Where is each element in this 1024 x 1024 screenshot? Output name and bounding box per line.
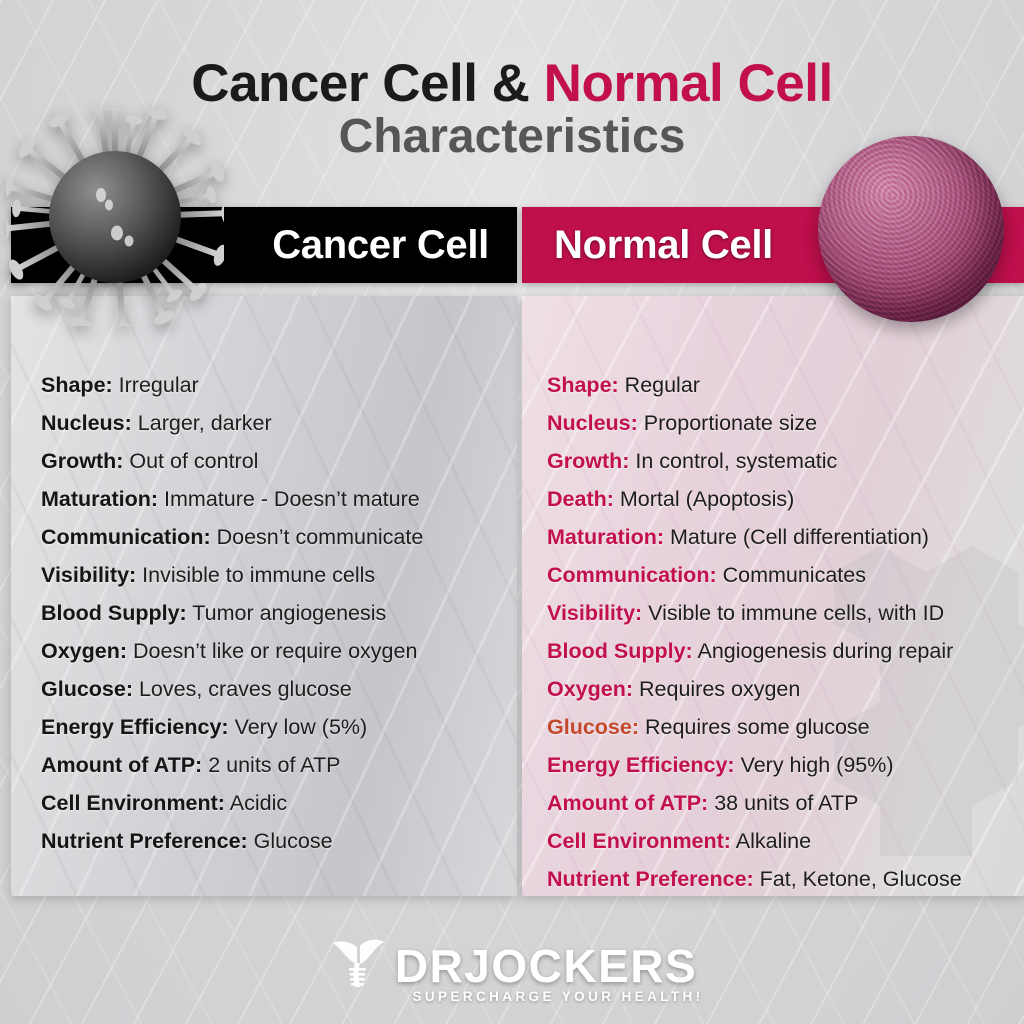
normal-characteristic-value: Requires some glucose bbox=[639, 715, 870, 739]
cancer-characteristic-value: Very low (5%) bbox=[229, 715, 368, 739]
normal-cell-header-label: Normal Cell bbox=[554, 223, 773, 268]
cancer-characteristic-value: Larger, darker bbox=[132, 411, 272, 435]
normal-characteristic-label: Amount of ATP: bbox=[547, 791, 708, 815]
cancer-characteristic-label: Growth: bbox=[41, 449, 123, 473]
normal-characteristic-value: Fat, Ketone, Glucose bbox=[754, 867, 962, 891]
infographic-canvas: Cancer Cell & Normal Cell Characteristic… bbox=[0, 0, 1024, 1024]
normal-characteristic-label: Energy Efficiency: bbox=[547, 753, 735, 777]
normal-characteristic-label: Growth: bbox=[547, 449, 629, 473]
cancer-characteristic-value: Irregular bbox=[113, 373, 199, 397]
normal-characteristic-value: Angiogenesis during repair bbox=[693, 639, 954, 663]
cancer-characteristic-row: Energy Efficiency: Very low (5%) bbox=[41, 708, 511, 746]
normal-characteristic-row: Nucleus: Proportionate size bbox=[547, 404, 1024, 442]
normal-characteristic-row: Cell Environment: Alkaline bbox=[547, 822, 1024, 860]
title-line-1: Cancer Cell & Normal Cell bbox=[0, 56, 1024, 111]
normal-characteristic-value: Mortal (Apoptosis) bbox=[614, 487, 794, 511]
cancer-characteristic-label: Nucleus: bbox=[41, 411, 132, 435]
normal-characteristic-row: Shape: Regular bbox=[547, 366, 1024, 404]
brand-tagline: SUPERCHARGE YOUR HEALTH! bbox=[412, 989, 703, 1004]
normal-characteristic-label: Nucleus: bbox=[547, 411, 638, 435]
normal-characteristic-row: Visibility: Visible to immune cells, wit… bbox=[547, 594, 1024, 632]
normal-cell-surface-texture bbox=[818, 136, 1004, 322]
normal-characteristic-label: Shape: bbox=[547, 373, 619, 397]
normal-characteristic-row: Death: Mortal (Apoptosis) bbox=[547, 480, 1024, 518]
normal-characteristic-label: Oxygen: bbox=[547, 677, 633, 701]
cancer-characteristic-label: Shape: bbox=[41, 373, 113, 397]
normal-characteristic-row: Nutrient Preference: Fat, Ketone, Glucos… bbox=[547, 860, 1024, 898]
cancer-characteristic-label: Visibility: bbox=[41, 563, 136, 587]
cancer-characteristic-row: Visibility: Invisible to immune cells bbox=[41, 556, 511, 594]
cancer-characteristic-label: Oxygen: bbox=[41, 639, 127, 663]
normal-characteristic-value: Mature (Cell differentiation) bbox=[664, 525, 929, 549]
cancer-characteristic-value: Invisible to immune cells bbox=[136, 563, 375, 587]
cancer-characteristic-value: Out of control bbox=[123, 449, 258, 473]
cancer-cell-header-label: Cancer Cell bbox=[272, 223, 489, 268]
cancer-characteristic-label: Maturation: bbox=[41, 487, 158, 511]
cancer-characteristic-value: Acidic bbox=[225, 791, 287, 815]
normal-characteristic-label: Visibility: bbox=[547, 601, 642, 625]
cancer-characteristic-row: Blood Supply: Tumor angiogenesis bbox=[41, 594, 511, 632]
cancer-characteristic-row: Maturation: Immature - Doesn’t mature bbox=[41, 480, 511, 518]
cancer-characteristic-row: Shape: Irregular bbox=[41, 366, 511, 404]
footer-branding: DRJOCKERS SUPERCHARGE YOUR HEALTH! bbox=[0, 937, 1024, 1004]
normal-characteristic-row: Communication: Communicates bbox=[547, 556, 1024, 594]
cancer-characteristic-value: Tumor angiogenesis bbox=[187, 601, 387, 625]
cancer-characteristic-value: Glucose bbox=[248, 829, 333, 853]
normal-characteristic-row: Maturation: Mature (Cell differentiation… bbox=[547, 518, 1024, 556]
normal-characteristic-row: Energy Efficiency: Very high (95%) bbox=[547, 746, 1024, 784]
cancer-cell-spiky-gray-icon bbox=[6, 108, 224, 326]
normal-characteristic-row: Growth: In control, systematic bbox=[547, 442, 1024, 480]
normal-characteristic-value: Visible to immune cells, with ID bbox=[642, 601, 944, 625]
cancer-characteristic-label: Energy Efficiency: bbox=[41, 715, 229, 739]
cancer-characteristic-label: Nutrient Preference: bbox=[41, 829, 248, 853]
normal-characteristic-label: Communication: bbox=[547, 563, 717, 587]
cancer-characteristic-row: Glucose: Loves, craves glucose bbox=[41, 670, 511, 708]
cancer-characteristic-value: 2 units of ATP bbox=[202, 753, 340, 777]
normal-characteristic-label: Glucose: bbox=[547, 715, 639, 739]
title-cancer-part: Cancer Cell & bbox=[191, 54, 529, 113]
normal-characteristic-row: Glucose: Requires some glucose bbox=[547, 708, 1024, 746]
title-normal-part: Normal Cell bbox=[544, 54, 833, 113]
cancer-characteristic-row: Oxygen: Doesn’t like or require oxygen bbox=[41, 632, 511, 670]
normal-cell-characteristics-list: Shape: RegularNucleus: Proportionate siz… bbox=[547, 366, 1024, 898]
normal-characteristic-row: Blood Supply: Angiogenesis during repair bbox=[547, 632, 1024, 670]
brand-name: DRJOCKERS bbox=[395, 939, 697, 993]
cancer-characteristic-value: Immature - Doesn’t mature bbox=[158, 487, 420, 511]
normal-characteristic-label: Blood Supply: bbox=[547, 639, 693, 663]
cancer-characteristic-label: Communication: bbox=[41, 525, 211, 549]
cancer-characteristic-label: Blood Supply: bbox=[41, 601, 187, 625]
normal-cell-round-pink-icon bbox=[818, 136, 1004, 322]
normal-characteristic-value: Regular bbox=[619, 373, 700, 397]
normal-characteristic-label: Death: bbox=[547, 487, 614, 511]
normal-characteristic-row: Amount of ATP: 38 units of ATP bbox=[547, 784, 1024, 822]
normal-characteristic-value: Proportionate size bbox=[638, 411, 817, 435]
cancer-characteristic-row: Nutrient Preference: Glucose bbox=[41, 822, 511, 860]
cancer-characteristic-label: Glucose: bbox=[41, 677, 133, 701]
cancer-characteristic-value: Loves, craves glucose bbox=[133, 677, 352, 701]
normal-characteristic-value: Alkaline bbox=[731, 829, 811, 853]
normal-characteristic-label: Maturation: bbox=[547, 525, 664, 549]
normal-characteristic-value: Very high (95%) bbox=[735, 753, 894, 777]
normal-characteristic-row: Oxygen: Requires oxygen bbox=[547, 670, 1024, 708]
cancer-characteristic-value: Doesn’t like or require oxygen bbox=[127, 639, 417, 663]
cancer-characteristic-label: Cell Environment: bbox=[41, 791, 225, 815]
cancer-cell-characteristics-list: Shape: IrregularNucleus: Larger, darkerG… bbox=[41, 366, 511, 860]
dna-leaf-icon bbox=[327, 937, 389, 995]
cancer-characteristic-row: Communication: Doesn’t communicate bbox=[41, 518, 511, 556]
cancer-characteristic-value: Doesn’t communicate bbox=[211, 525, 424, 549]
cancer-characteristic-row: Nucleus: Larger, darker bbox=[41, 404, 511, 442]
cancer-characteristic-row: Cell Environment: Acidic bbox=[41, 784, 511, 822]
cancer-characteristic-label: Amount of ATP: bbox=[41, 753, 202, 777]
cancer-characteristic-row: Growth: Out of control bbox=[41, 442, 511, 480]
normal-characteristic-label: Cell Environment: bbox=[547, 829, 731, 853]
normal-characteristic-value: 38 units of ATP bbox=[708, 791, 858, 815]
cancer-characteristic-row: Amount of ATP: 2 units of ATP bbox=[41, 746, 511, 784]
normal-characteristic-value: Communicates bbox=[717, 563, 866, 587]
normal-characteristic-label: Nutrient Preference: bbox=[547, 867, 754, 891]
normal-characteristic-value: Requires oxygen bbox=[633, 677, 800, 701]
normal-characteristic-value: In control, systematic bbox=[629, 449, 837, 473]
